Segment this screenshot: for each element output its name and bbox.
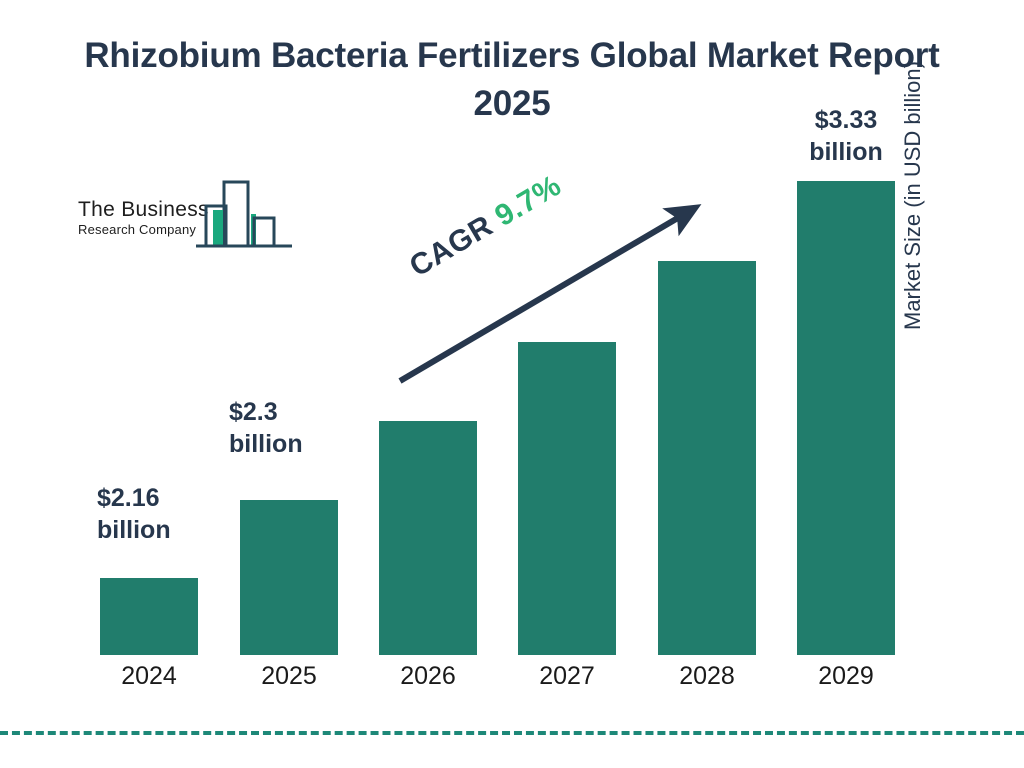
x-axis-label-2026: 2026: [368, 662, 488, 691]
bar-2028: [658, 261, 756, 655]
value-label-2024-amount: $2.16: [97, 482, 171, 514]
x-axis-label-2025: 2025: [229, 662, 349, 691]
cagr-annotation: CAGR 9.7%: [404, 169, 567, 284]
value-label-2025-amount: $2.3: [229, 396, 303, 428]
value-label-2024-unit: billion: [97, 514, 171, 546]
bottom-divider: [0, 731, 1024, 735]
x-axis-label-2028: 2028: [647, 662, 767, 691]
value-label-2024: $2.16 billion: [97, 482, 171, 546]
x-axis-label-2029: 2029: [786, 662, 906, 691]
bar-2024: [100, 578, 198, 655]
x-axis-label-2027: 2027: [507, 662, 627, 691]
bar-2026: [379, 421, 477, 655]
value-label-2029-unit: billion: [786, 136, 906, 168]
logo-line-2: Research Company: [78, 222, 208, 238]
value-label-2029: $3.33 billion: [786, 104, 906, 168]
company-logo: The Business Research Company: [78, 186, 288, 258]
bar-2029: [797, 181, 895, 655]
cagr-label: CAGR: [404, 209, 499, 283]
logo-line-1: The Business: [78, 198, 208, 222]
cagr-value: 9.7%: [489, 169, 566, 233]
bar-2025: [240, 500, 338, 655]
y-axis-title: Market Size (in USD billion): [900, 0, 926, 330]
chart-canvas: Rhizobium Bacteria Fertilizers Global Ma…: [0, 0, 1024, 768]
value-label-2025: $2.3 billion: [229, 396, 303, 460]
x-axis-label-2024: 2024: [89, 662, 209, 691]
bar-chart-logo-mark: [196, 178, 296, 263]
value-label-2025-unit: billion: [229, 428, 303, 460]
logo-text: The Business Research Company: [78, 198, 208, 238]
bar-2027: [518, 342, 616, 655]
value-label-2029-amount: $3.33: [786, 104, 906, 136]
